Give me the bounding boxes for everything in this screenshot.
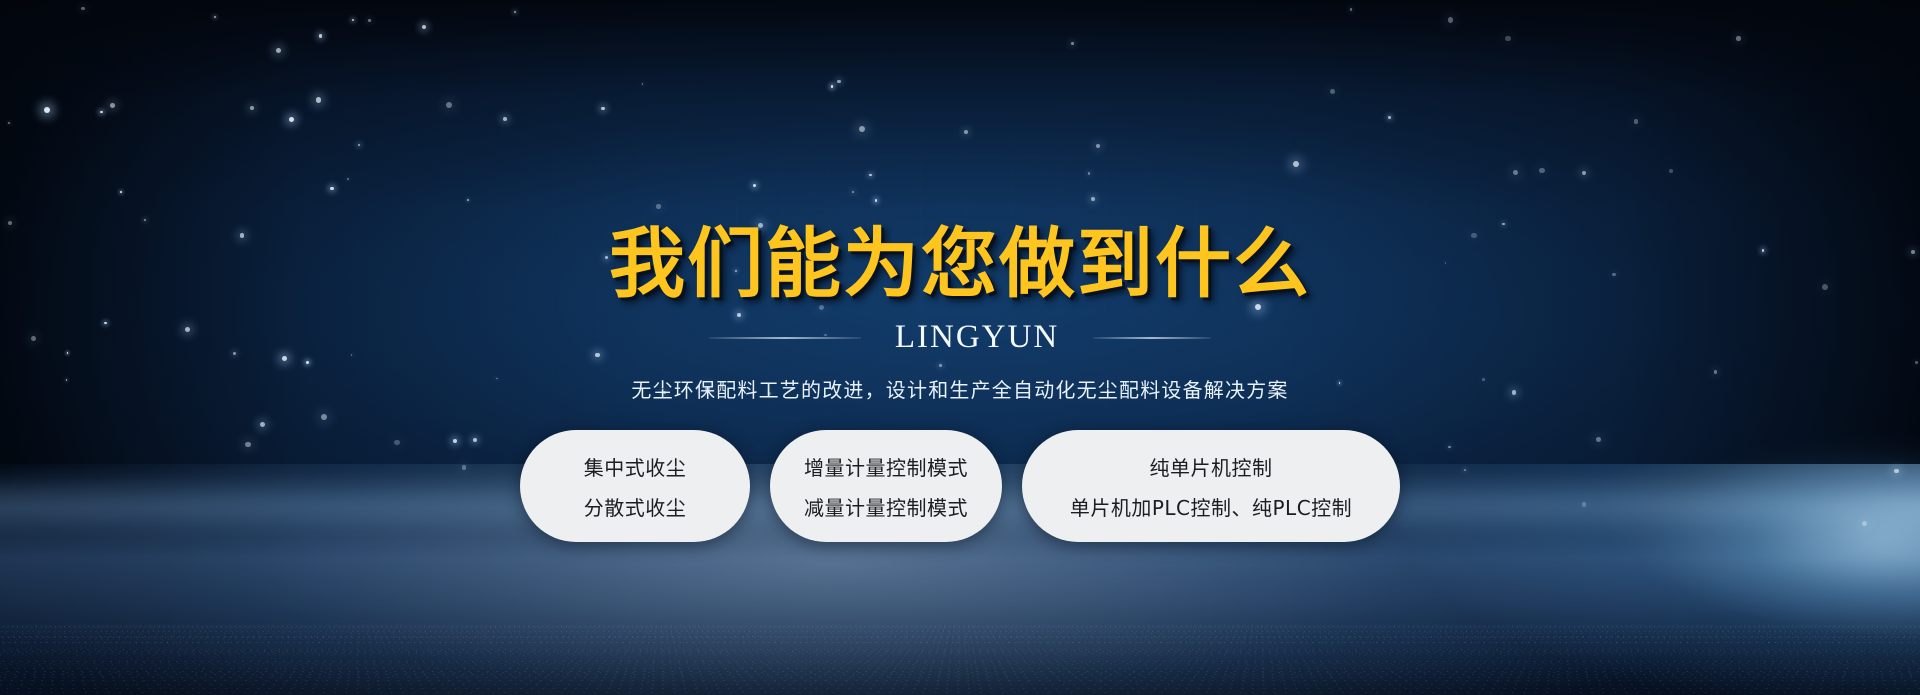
brand-subtitle-row: LINGYUN [709,319,1211,356]
feature-pill-line: 分散式收尘 [584,492,687,521]
feature-pill-line: 增量计量控制模式 [804,452,968,481]
divider-line-left [709,337,861,339]
banner-content: 我们能为您做到什么 LINGYUN 无尘环保配料工艺的改进，设计和生产全自动化无… [0,0,1920,695]
divider-line-right [1093,337,1211,339]
feature-pill-line: 减量计量控制模式 [804,492,968,521]
page-description: 无尘环保配料工艺的改进，设计和生产全自动化无尘配料设备解决方案 [631,374,1288,403]
brand-name-latin: LINGYUN [895,319,1059,356]
hero-banner: 我们能为您做到什么 LINGYUN 无尘环保配料工艺的改进，设计和生产全自动化无… [0,0,1920,695]
feature-pill-line: 集中式收尘 [584,452,687,481]
feature-pill-control-system[interactable]: 纯单片机控制单片机加PLC控制、纯PLC控制 [1022,430,1400,542]
feature-pill-line: 纯单片机控制 [1150,452,1273,481]
feature-pill-dust-collection[interactable]: 集中式收尘分散式收尘 [520,430,750,542]
feature-pill-metering-mode[interactable]: 增量计量控制模式减量计量控制模式 [770,430,1002,542]
page-title: 我们能为您做到什么 [609,226,1311,302]
feature-pill-group: 集中式收尘分散式收尘增量计量控制模式减量计量控制模式纯单片机控制单片机加PLC控… [520,430,1400,542]
feature-pill-line: 单片机加PLC控制、纯PLC控制 [1070,492,1352,521]
